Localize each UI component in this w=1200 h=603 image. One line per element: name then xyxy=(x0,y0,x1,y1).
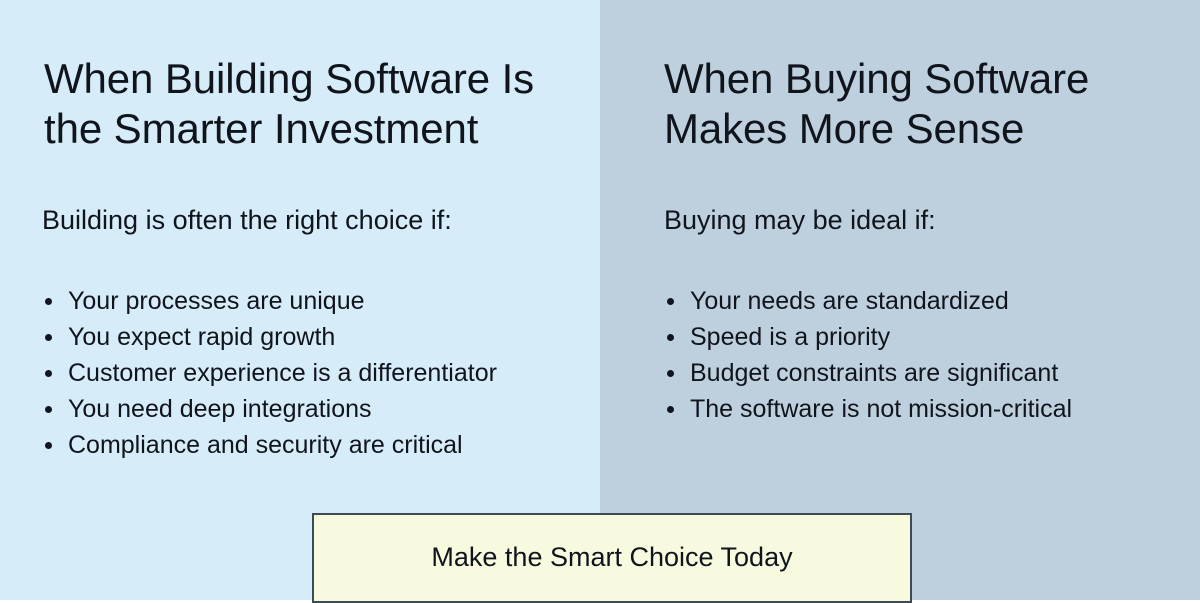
list-item-label: You expect rapid growth xyxy=(68,323,335,351)
cta-label: Make the Smart Choice Today xyxy=(431,541,792,573)
build-column-subtitle: Building is often the right choice if: xyxy=(42,203,452,237)
list-item-label: You need deep integrations xyxy=(68,395,372,423)
comparison-infographic: When Building Software Is the Smarter In… xyxy=(0,0,1200,600)
bullet-dot-icon xyxy=(667,334,674,341)
list-item-label: Compliance and security are critical xyxy=(68,431,463,459)
buy-column-subtitle: Buying may be ideal if: xyxy=(664,203,936,237)
bullet-dot-icon xyxy=(45,442,52,449)
list-item-label: Your needs are standardized xyxy=(690,287,1009,315)
list-item: Compliance and security are critical xyxy=(42,427,582,463)
buy-column-title: When Buying Software Makes More Sense xyxy=(664,54,1176,154)
list-item-label: The software is not mission-critical xyxy=(690,395,1072,423)
list-item: Your processes are unique xyxy=(42,283,582,319)
list-item: Customer experience is a differentiator xyxy=(42,355,582,391)
list-item: You need deep integrations xyxy=(42,391,582,427)
bullet-dot-icon xyxy=(667,406,674,413)
list-item: Speed is a priority xyxy=(664,319,1176,355)
buy-bullet-list: Your needs are standardized Speed is a p… xyxy=(664,283,1176,427)
list-item-label: Budget constraints are significant xyxy=(690,359,1058,387)
bullet-dot-icon xyxy=(667,298,674,305)
bullet-dot-icon xyxy=(45,370,52,377)
build-column-title: When Building Software Is the Smarter In… xyxy=(44,54,564,154)
build-bullet-list: Your processes are unique You expect rap… xyxy=(42,283,582,463)
bullet-dot-icon xyxy=(667,370,674,377)
list-item: The software is not mission-critical xyxy=(664,391,1176,427)
list-item-label: Your processes are unique xyxy=(68,287,365,315)
list-item: Budget constraints are significant xyxy=(664,355,1176,391)
bullet-dot-icon xyxy=(45,334,52,341)
bullet-dot-icon xyxy=(45,406,52,413)
cta-button[interactable]: Make the Smart Choice Today xyxy=(312,513,912,603)
list-item: You expect rapid growth xyxy=(42,319,582,355)
list-item-label: Customer experience is a differentiator xyxy=(68,359,497,387)
list-item: Your needs are standardized xyxy=(664,283,1176,319)
bullet-dot-icon xyxy=(45,298,52,305)
build-column-panel: When Building Software Is the Smarter In… xyxy=(0,0,600,600)
list-item-label: Speed is a priority xyxy=(690,323,890,351)
